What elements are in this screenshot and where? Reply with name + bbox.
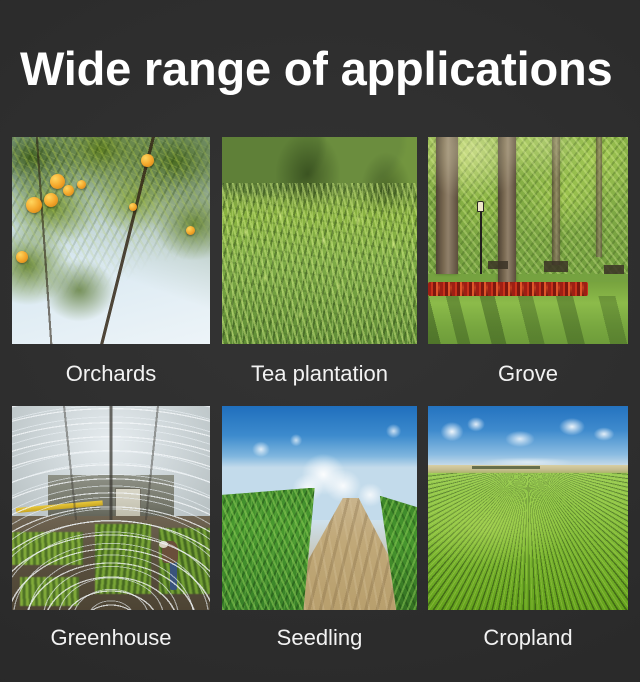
application-cell-orchards[interactable]: Orchards [12, 137, 210, 344]
application-cell-tea-plantation[interactable]: Tea plantation [222, 137, 417, 344]
orchard-oranges [12, 137, 210, 344]
orchard-photo [12, 137, 210, 344]
applications-poster: Wide range of applications [0, 0, 640, 682]
tea-shoot-tips [222, 137, 417, 344]
applications-row-1: Orchards Tea plantation [0, 137, 640, 385]
application-cell-grove[interactable]: Grove [428, 137, 628, 344]
seedling-photo [222, 406, 417, 610]
application-cell-cropland[interactable]: Cropland [428, 406, 628, 610]
caption-orchards: Orchards [12, 361, 210, 387]
applications-row-2: Greenhouse Seedling [0, 406, 640, 654]
caption-tea-plantation: Tea plantation [222, 361, 417, 387]
cropland-field-light [428, 473, 628, 610]
greenhouse-photo [12, 406, 210, 610]
caption-greenhouse: Greenhouse [12, 625, 210, 651]
greenhouse-ridge-wires [12, 406, 210, 520]
caption-grove: Grove [428, 361, 628, 387]
grove-sunlight [428, 137, 628, 344]
application-cell-greenhouse[interactable]: Greenhouse [12, 406, 210, 610]
cropland-photo [428, 406, 628, 610]
tea-plantation-photo [222, 137, 417, 344]
caption-seedling: Seedling [222, 625, 417, 651]
grove-photo [428, 137, 628, 344]
cropland-distant-treeline [472, 466, 540, 468]
cropland-clouds [428, 406, 628, 467]
caption-cropland: Cropland [428, 625, 628, 651]
page-title: Wide range of applications [20, 40, 624, 98]
application-cell-seedling[interactable]: Seedling [222, 406, 417, 610]
